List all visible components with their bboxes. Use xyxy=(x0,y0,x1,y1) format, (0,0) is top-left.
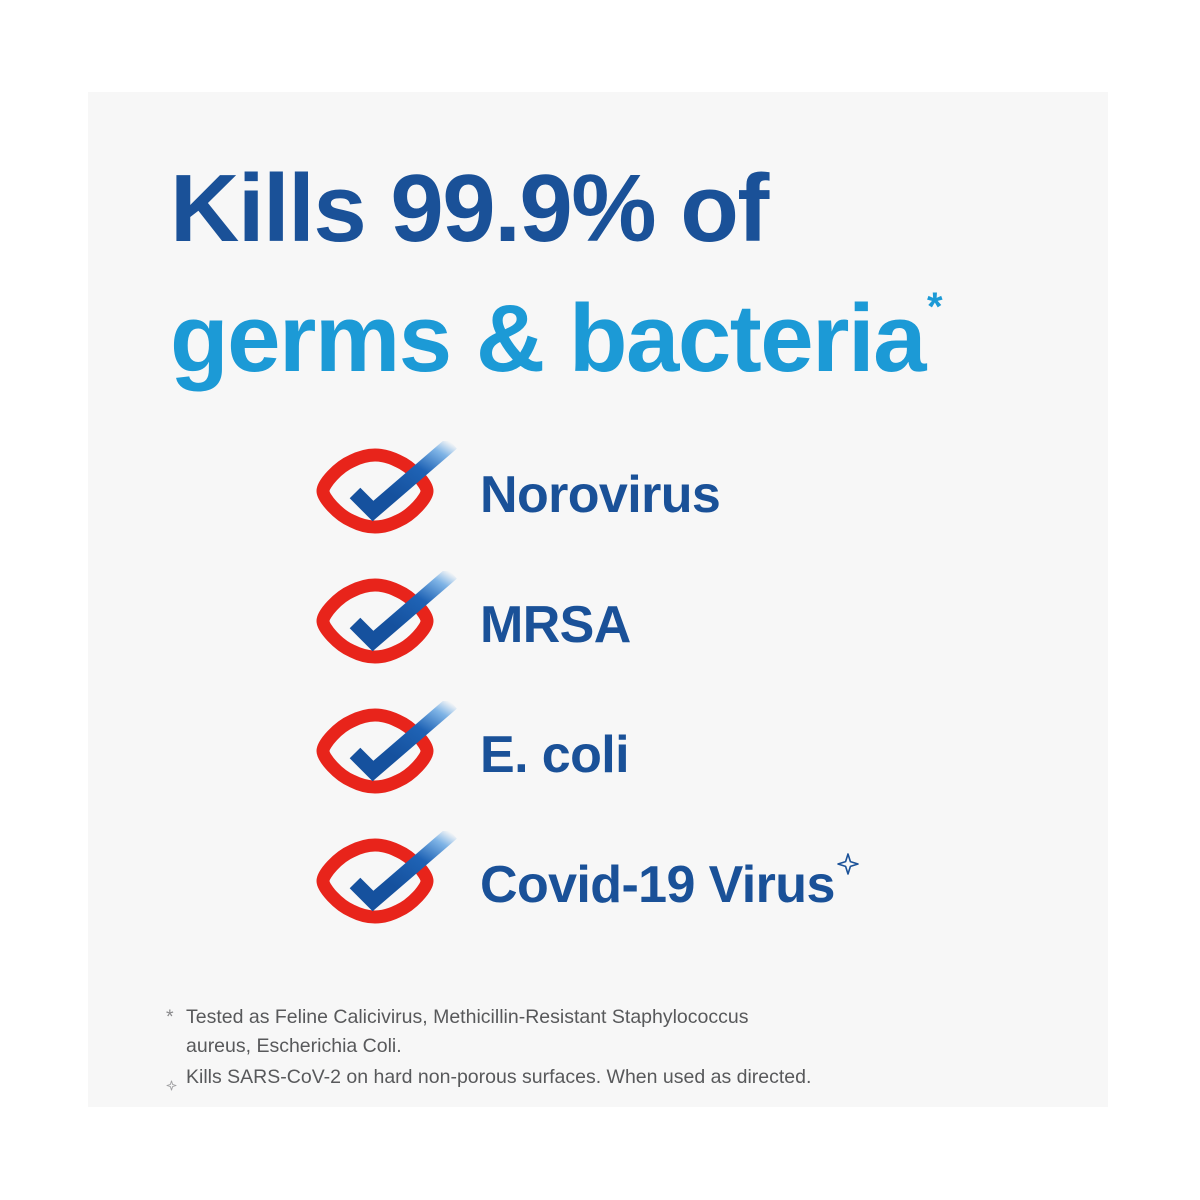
claim-label-text: Norovirus xyxy=(480,466,720,524)
footnote-text: Kills SARS-CoV-2 on hard non-porous surf… xyxy=(186,1063,811,1092)
asterisk-marker: * xyxy=(166,1003,186,1032)
claim-label-text: Covid-19 Virus xyxy=(480,856,835,914)
claim-item-norovirus: Norovirus xyxy=(310,430,1050,560)
claim-item-e-coli: E. coli xyxy=(310,690,1050,820)
claim-label: E. coli xyxy=(480,729,629,781)
headline-line-2: germs & bacteria* xyxy=(170,267,1030,397)
promo-graphic: Kills 99.9% of germs & bacteria* xyxy=(0,0,1200,1200)
sparkle-marker xyxy=(166,1063,186,1092)
headline-footnote-marker: * xyxy=(927,285,941,329)
red-lens-blue-checkmark-icon xyxy=(310,571,460,671)
headline-block: Kills 99.9% of germs & bacteria* xyxy=(170,150,1030,397)
red-lens-blue-checkmark-icon xyxy=(310,441,460,541)
claim-label-text: MRSA xyxy=(480,596,631,654)
footnote-item: * Tested as Feline Calicivirus, Methicil… xyxy=(166,1003,986,1061)
footnote-item: Kills SARS-CoV-2 on hard non-porous surf… xyxy=(166,1063,986,1092)
headline-line-2-text: germs & bacteria xyxy=(170,285,925,392)
claim-label-text: E. coli xyxy=(480,726,629,784)
footnote-text: Tested as Feline Calicivirus, Methicilli… xyxy=(186,1003,748,1061)
claim-label: MRSA xyxy=(480,599,631,651)
sparkle-footnote-icon xyxy=(836,852,860,876)
red-lens-blue-checkmark-icon xyxy=(310,701,460,801)
claim-label: Covid-19 Virus xyxy=(480,859,859,911)
headline-line-1: Kills 99.9% of xyxy=(170,150,1030,267)
claims-list: Norovirus xyxy=(310,430,1050,950)
claim-item-mrsa: MRSA xyxy=(310,560,1050,690)
red-lens-blue-checkmark-icon xyxy=(310,831,460,931)
claim-item-covid-19-virus: Covid-19 Virus xyxy=(310,820,1050,950)
claim-label: Norovirus xyxy=(480,469,720,521)
footnotes-block: * Tested as Feline Calicivirus, Methicil… xyxy=(166,1003,986,1094)
